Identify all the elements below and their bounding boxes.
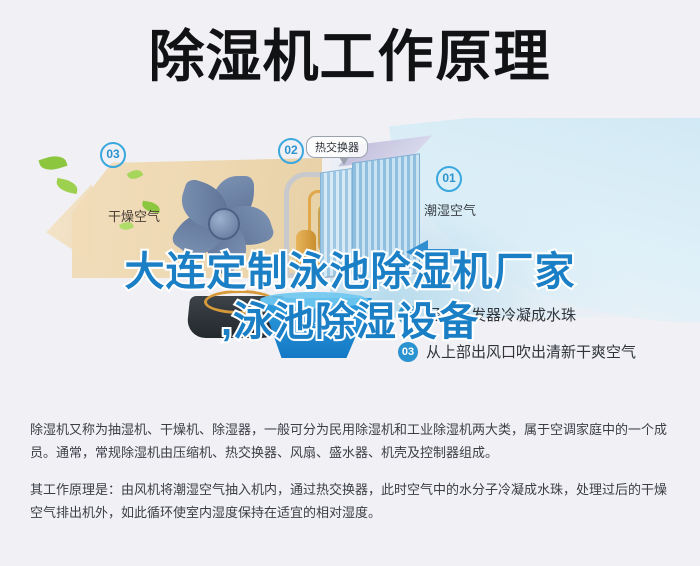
title-part-b: 工作原理 xyxy=(320,25,552,88)
step-item: 02 经过蒸发器冷凝成水珠 xyxy=(398,304,698,325)
callout-label-humid-air: 潮湿空气 xyxy=(424,200,476,219)
callout-label-heat-exchanger: 热交换器 xyxy=(306,136,368,158)
body-copy: 除湿机又称为抽湿机、干燥机、除湿器，一般可分为民用除湿机和工业除湿机两大类，属于… xyxy=(30,418,676,524)
callout-badge-02: 02 xyxy=(278,138,304,164)
step-badge: 02 xyxy=(398,305,418,325)
water-tank: 水箱 xyxy=(256,298,372,360)
intake-arrow-tail xyxy=(426,249,466,255)
page-root: 除湿机工作原理 xyxy=(0,0,700,566)
step-text: 经过蒸发器冷凝成水珠 xyxy=(426,304,576,325)
water-tank-label: 水箱 xyxy=(256,318,372,334)
body-paragraph-2: 其工作原理是：由风机将潮湿空气抽入机内，通过热交换器，此时空气中的水分子冷凝成水… xyxy=(30,478,676,524)
step-badge: 03 xyxy=(398,342,418,362)
compressor-cylinder xyxy=(296,230,316,272)
leaf-icon xyxy=(55,178,79,194)
page-title: 除湿机工作原理 xyxy=(0,26,700,88)
fan-icon xyxy=(170,170,276,274)
water-tank-rim xyxy=(260,292,368,308)
step-item: 03 从上部出风口吹出清新干爽空气 xyxy=(398,341,698,362)
leaf-icon xyxy=(38,152,67,173)
callout-badge-03: 03 xyxy=(100,142,126,168)
intake-arrow-icon xyxy=(406,240,428,264)
step-list: 02 经过蒸发器冷凝成水珠 03 从上部出风口吹出清新干爽空气 xyxy=(398,304,698,378)
title-part-a: 除湿机 xyxy=(149,25,320,88)
condenser-fins xyxy=(320,167,356,278)
body-paragraph-1: 除湿机又称为抽湿机、干燥机、除湿器，一般可分为民用除湿机和工业除湿机两大类，属于… xyxy=(30,418,676,464)
dehumidifier-diagram: 水箱 03 干燥空气 02 热交换器 01 潮湿空气 02 经过蒸发器冷凝成水珠… xyxy=(0,118,700,403)
step-text: 从上部出风口吹出清新干爽空气 xyxy=(426,341,636,362)
fan-hub xyxy=(208,208,240,240)
callout-badge-01: 01 xyxy=(436,166,462,192)
title-line: 除湿机工作原理 xyxy=(149,26,552,88)
callout-label-dry-air: 干燥空气 xyxy=(108,206,160,225)
